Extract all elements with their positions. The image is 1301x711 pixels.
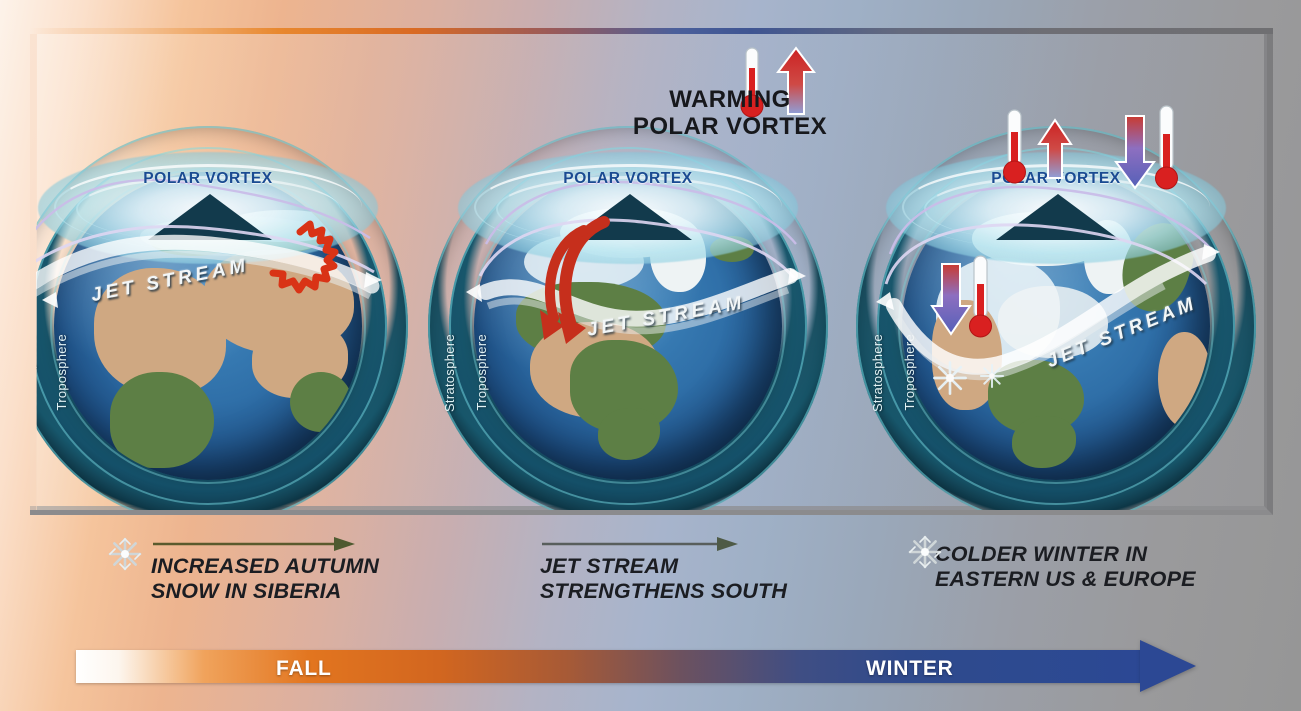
timeline-winter-label: WINTER — [866, 657, 954, 681]
timeline-fall-label: FALL — [276, 657, 332, 681]
polar-vortex-label: POLAR VORTEX — [846, 170, 1266, 188]
panel-cold-winter[interactable]: POLAR VORTEX Stratosphere Troposphere JE… — [846, 34, 1266, 510]
caption-text: COLDER WINTER IN EASTERN US & EUROPE — [935, 542, 1245, 591]
right-arrow-icon — [1140, 640, 1196, 692]
caption-text: INCREASED AUTUMN SNOW IN SIBERIA — [151, 554, 475, 603]
caption-colder-winter: COLDER WINTER IN EASTERN US & EUROPE — [905, 528, 1245, 591]
gray-right-arrow-icon — [540, 536, 740, 552]
infographic-canvas: POLAR VORTEX Stratosphere Troposphere JE… — [0, 0, 1301, 711]
olive-right-arrow-icon — [151, 536, 357, 552]
panel-fall-siberia[interactable]: POLAR VORTEX Stratosphere Troposphere JE… — [36, 34, 418, 510]
polar-vortex-label: POLAR VORTEX — [36, 170, 418, 188]
season-timeline[interactable]: FALL WINTER — [76, 644, 1196, 688]
caption-text: JET STREAM STRENGTHENS SOUTH — [540, 554, 870, 603]
caption-increased-autumn-snow: INCREASED AUTUMN SNOW IN SIBERIA — [105, 528, 475, 603]
polar-vortex-label: POLAR VORTEX — [418, 170, 838, 188]
frame-top-gradient-bar — [30, 28, 1273, 34]
snowflake-icon — [905, 532, 945, 572]
warming-polar-vortex-title: WARMING POLAR VORTEX — [560, 86, 900, 140]
timeline-bar — [76, 650, 1142, 683]
caption-jet-stream-strengthens: JET STREAM STRENGTHENS SOUTH — [540, 528, 870, 603]
snowflake-icon — [105, 534, 145, 574]
